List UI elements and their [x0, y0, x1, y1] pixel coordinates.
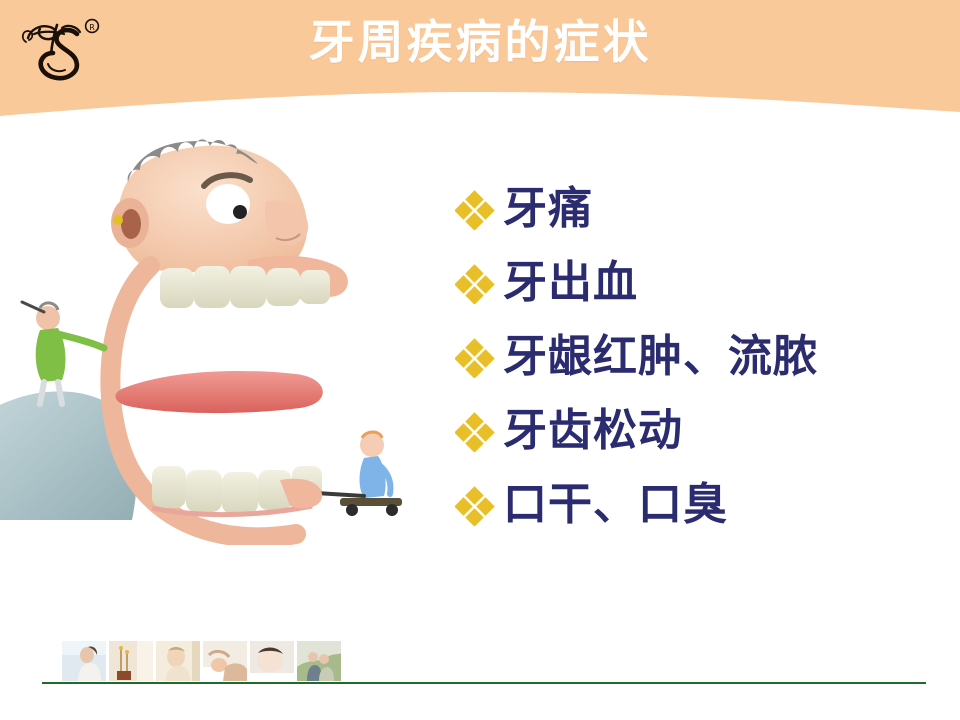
- thumbnail-woman-relaxing: [156, 641, 200, 681]
- thumbnail-woman-drinking: [62, 641, 106, 681]
- footer-thumbnail-strip: [62, 641, 344, 681]
- list-item-label: 牙齿松动: [503, 406, 935, 456]
- ts-script-monogram-logo-icon: R: [14, 12, 106, 88]
- page-title: 牙周疾病的症状: [0, 14, 960, 70]
- diamond-cluster-bullet-icon: [455, 412, 495, 452]
- upper-teeth-row: [160, 266, 330, 308]
- illustration-cartoon-open-mouth: [0, 120, 420, 545]
- brand-logo: R: [14, 12, 106, 88]
- list-item: 口干、口臭: [455, 468, 935, 542]
- symptom-list: 牙痛 牙出血: [455, 172, 935, 542]
- list-item-label: 牙龈红肿、流脓: [503, 332, 935, 382]
- diamond-cluster-bullet-icon: [455, 264, 495, 304]
- footer-divider-line: [42, 682, 926, 684]
- list-item: 牙龈红肿、流脓: [455, 320, 935, 394]
- helper-person-left: [22, 302, 104, 404]
- diamond-cluster-bullet-icon: [455, 190, 495, 230]
- list-item-label: 牙出血: [503, 258, 935, 308]
- list-item-label: 口干、口臭: [503, 480, 935, 530]
- thumbnail-spa-candles: [109, 641, 153, 681]
- list-item: 牙齿松动: [455, 394, 935, 468]
- diamond-cluster-bullet-icon: [455, 338, 495, 378]
- svg-text:R: R: [89, 23, 95, 32]
- cartoon-man-stretched-mouth-graphic: [0, 120, 420, 545]
- thumbnail-couple-outdoors: [297, 641, 341, 681]
- earring-icon: [113, 215, 123, 225]
- diamond-cluster-bullet-icon: [455, 486, 495, 526]
- slide-periodontal-disease-symptoms: 牙周疾病的症状 R: [0, 0, 960, 720]
- eye-pupil: [233, 205, 247, 219]
- thumbnail-facial-care: [250, 641, 294, 681]
- ear-canal: [121, 209, 141, 239]
- list-item: 牙痛: [455, 172, 935, 246]
- thumbnail-massage-treatment: [203, 641, 247, 681]
- registered-trademark-icon: R: [86, 20, 99, 33]
- list-item-label: 牙痛: [503, 184, 935, 234]
- list-item: 牙出血: [455, 246, 935, 320]
